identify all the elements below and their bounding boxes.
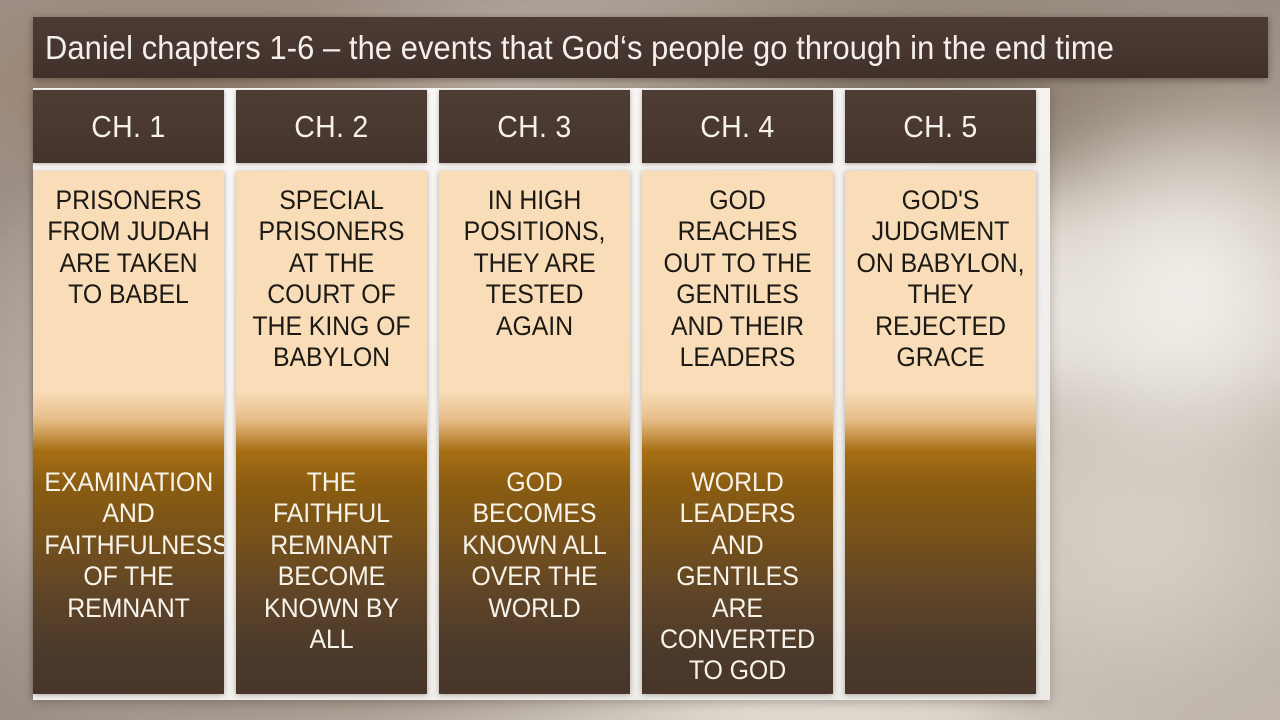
cell-top-ch2: SPECIAL PRISONERS AT THE COURT OF THE KI… [236,185,427,373]
cell-bottom-text: EXAMINATION AND FAITHFULNESS OF THE REMN… [44,467,212,624]
cell-top-ch1: PRISONERS FROM JUDAH ARE TAKEN TO BABEL [33,185,224,311]
cell-top-text: SPECIAL PRISONERS AT THE COURT OF THE KI… [247,185,415,373]
column-header-ch3: CH. 3 [439,90,630,163]
column-body-ch1: PRISONERS FROM JUDAH ARE TAKEN TO BABEL … [33,171,224,694]
column-body-ch2: SPECIAL PRISONERS AT THE COURT OF THE KI… [236,171,427,694]
chapter-column-5: CH. 5 GOD'S JUDGMENT ON BABYLON, THEY RE… [845,90,1036,694]
cell-top-text: GOD REACHES OUT TO THE GENTILES AND THEI… [653,185,821,373]
slide-title: Daniel chapters 1-6 – the events that Go… [45,31,1114,64]
background-blur-right [1040,120,1280,460]
column-header-label: CH. 3 [497,109,571,145]
chapter-column-3: CH. 3 IN HIGH POSITIONS, THEY ARE TESTED… [439,90,630,694]
cell-bottom-ch4: WORLD LEADERS AND GENTILES ARE CONVERTED… [642,467,833,687]
column-body-ch4: GOD REACHES OUT TO THE GENTILES AND THEI… [642,171,833,694]
cell-top-ch3: IN HIGH POSITIONS, THEY ARE TESTED AGAIN [439,185,630,342]
cell-bottom-ch3: GOD BECOMES KNOWN ALL OVER THE WORLD [439,467,630,624]
column-header-ch5: CH. 5 [845,90,1036,163]
cell-bottom-text: THE FAITHFUL REMNANT BECOME KNOWN BY ALL [247,467,415,655]
chapter-column-2: CH. 2 SPECIAL PRISONERS AT THE COURT OF … [236,90,427,694]
column-body-ch3: IN HIGH POSITIONS, THEY ARE TESTED AGAIN… [439,171,630,694]
chapter-column-4: CH. 4 GOD REACHES OUT TO THE GENTILES AN… [642,90,833,694]
chapter-table: CH. 1 PRISONERS FROM JUDAH ARE TAKEN TO … [33,90,1050,694]
cell-top-ch5: GOD'S JUDGMENT ON BABYLON, THEY REJECTED… [845,185,1036,373]
column-header-ch1: CH. 1 [33,90,224,163]
column-header-label: CH. 4 [700,109,774,145]
chapter-column-1: CH. 1 PRISONERS FROM JUDAH ARE TAKEN TO … [33,90,224,694]
slide-canvas: Daniel chapters 1-6 – the events that Go… [0,0,1280,720]
column-header-ch4: CH. 4 [642,90,833,163]
cell-bottom-ch1: EXAMINATION AND FAITHFULNESS OF THE REMN… [33,467,224,624]
cell-bottom-ch2: THE FAITHFUL REMNANT BECOME KNOWN BY ALL [236,467,427,655]
column-header-label: CH. 1 [91,109,165,145]
cell-top-text: PRISONERS FROM JUDAH ARE TAKEN TO BABEL [44,185,212,311]
cell-bottom-text: WORLD LEADERS AND GENTILES ARE CONVERTED… [653,467,821,687]
column-header-ch2: CH. 2 [236,90,427,163]
cell-top-text: GOD'S JUDGMENT ON BABYLON, THEY REJECTED… [856,185,1024,373]
cell-bottom-text: GOD BECOMES KNOWN ALL OVER THE WORLD [450,467,618,624]
column-body-ch5: GOD'S JUDGMENT ON BABYLON, THEY REJECTED… [845,171,1036,694]
slide-title-bar: Daniel chapters 1-6 – the events that Go… [33,17,1268,78]
column-header-label: CH. 2 [294,109,368,145]
column-header-label: CH. 5 [903,109,977,145]
cell-top-text: IN HIGH POSITIONS, THEY ARE TESTED AGAIN [450,185,618,342]
cell-top-ch4: GOD REACHES OUT TO THE GENTILES AND THEI… [642,185,833,373]
